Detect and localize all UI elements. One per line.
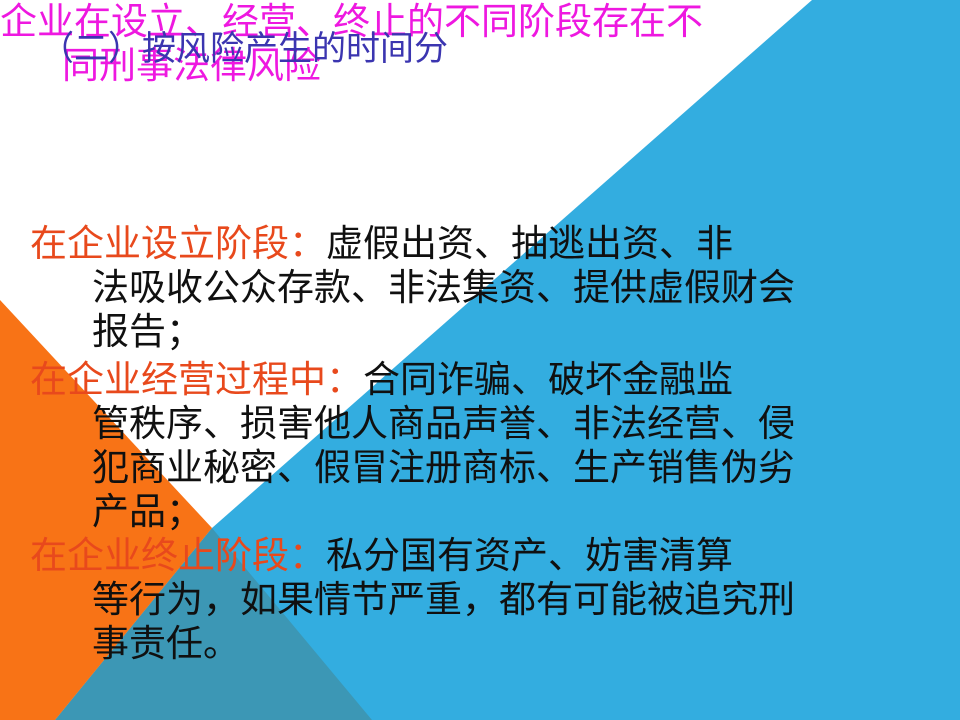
paragraph-3-line-2: 等行为，如果情节严重，都有可能被追究刑 (30, 578, 910, 622)
paragraph-1-line-3: 报告； (30, 310, 910, 354)
presentation-slide: （二）按风险产生的时间分 企业在设立、经营、终止的不同阶段存在不 同刑事法律风险… (0, 0, 960, 720)
paragraph-2-lead-label: 在企业经营过程中： (30, 358, 363, 401)
paragraph-establishment-stage: 在企业设立阶段：虚假出资、抽逃出资、非 法吸收公众存款、非法集资、提供虚假财会 … (30, 222, 910, 354)
paragraph-2-line-3: 犯商业秘密、假冒注册商标、生产销售伪劣 (30, 446, 910, 490)
paragraph-2-line-4: 产品； (30, 490, 910, 534)
paragraph-3-lead-label: 在企业终止阶段： (30, 534, 326, 577)
slide-text-content: （二）按风险产生的时间分 企业在设立、经营、终止的不同阶段存在不 同刑事法律风险… (0, 0, 960, 720)
paragraph-1-line-1: 虚假出资、抽逃出资、非 (326, 222, 733, 265)
paragraph-3-line-1: 私分国有资产、妨害清算 (326, 534, 733, 577)
paragraph-termination-stage: 在企业终止阶段：私分国有资产、妨害清算 等行为，如果情节严重，都有可能被追究刑 … (30, 534, 910, 666)
paragraph-operation-stage: 在企业经营过程中：合同诈骗、破坏金融监 管秩序、损害他人商品声誉、非法经营、侵 … (30, 358, 910, 534)
paragraph-1-lead-label: 在企业设立阶段： (30, 222, 326, 265)
paragraph-3-line-3: 事责任。 (30, 622, 910, 666)
paragraph-2-line-1: 合同诈骗、破坏金融监 (363, 358, 733, 401)
paragraph-1-line-2: 法吸收公众存款、非法集资、提供虚假财会 (30, 266, 910, 310)
page-title: （二）按风险产生的时间分 (40, 32, 448, 66)
paragraph-2-line-2: 管秩序、损害他人商品声誉、非法经营、侵 (30, 402, 910, 446)
